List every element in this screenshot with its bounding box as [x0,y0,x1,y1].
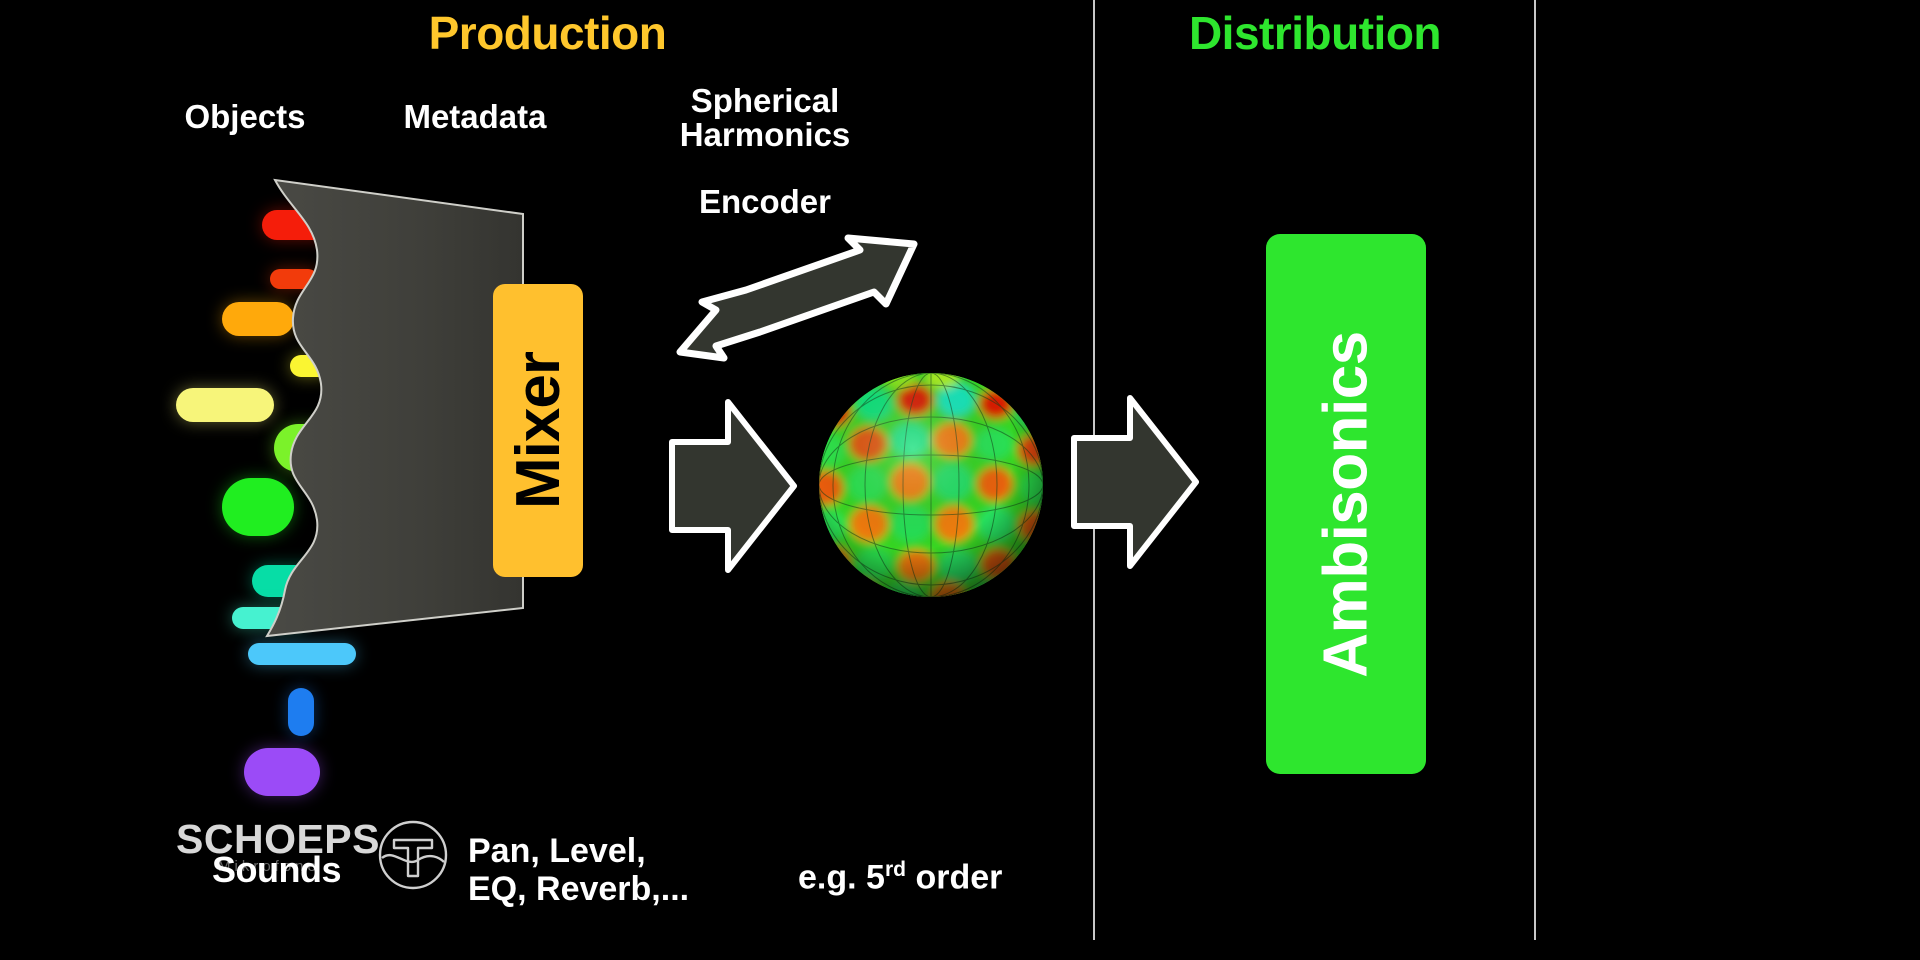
schoeps-emblem-icon [376,818,450,892]
sounds-overlay-text: Sounds [212,849,341,891]
production-section-title: Production [0,6,1095,60]
spherical-harmonics-label: Spherical Harmonics [660,84,870,153]
order-prefix: e.g. 5 [798,858,885,896]
object-bar-blue [288,688,314,736]
arrow-right-mixer-to-sphere-icon [668,396,798,576]
mixer-block-label: Mixer [503,352,574,509]
metadata-detail-caption: Pan, Level, EQ, Reverb,... [468,832,788,908]
order-tail: order [906,858,1002,896]
object-bar-skyblue [248,643,356,665]
distribution-section-title: Distribution [1095,6,1535,60]
mixer-block[interactable]: Mixer [493,284,583,577]
arrow-right-sphere-to-ambisonics-icon [1070,392,1200,572]
ambisonic-order-caption: e.g. 5rd order [798,858,1128,896]
spherical-harmonics-sphere [812,366,1050,604]
funnel-bracket-shape [255,178,525,638]
bidirectional-arrow-icon [672,232,922,364]
encoder-label: Encoder [665,185,865,219]
diagram-canvas: Production Distribution Objects Metadata… [0,0,1920,960]
metadata-column-label: Metadata [385,100,565,134]
object-bar-purple [244,748,320,796]
section-divider-right [1534,0,1536,940]
schoeps-logo: SCHOEPS Mikrofone Sounds [176,816,446,906]
ambisonics-block-label: Ambisonics [1311,331,1382,677]
ambisonics-block[interactable]: Ambisonics [1266,234,1426,774]
objects-column-label: Objects [155,100,335,134]
order-suffix: rd [885,858,906,881]
